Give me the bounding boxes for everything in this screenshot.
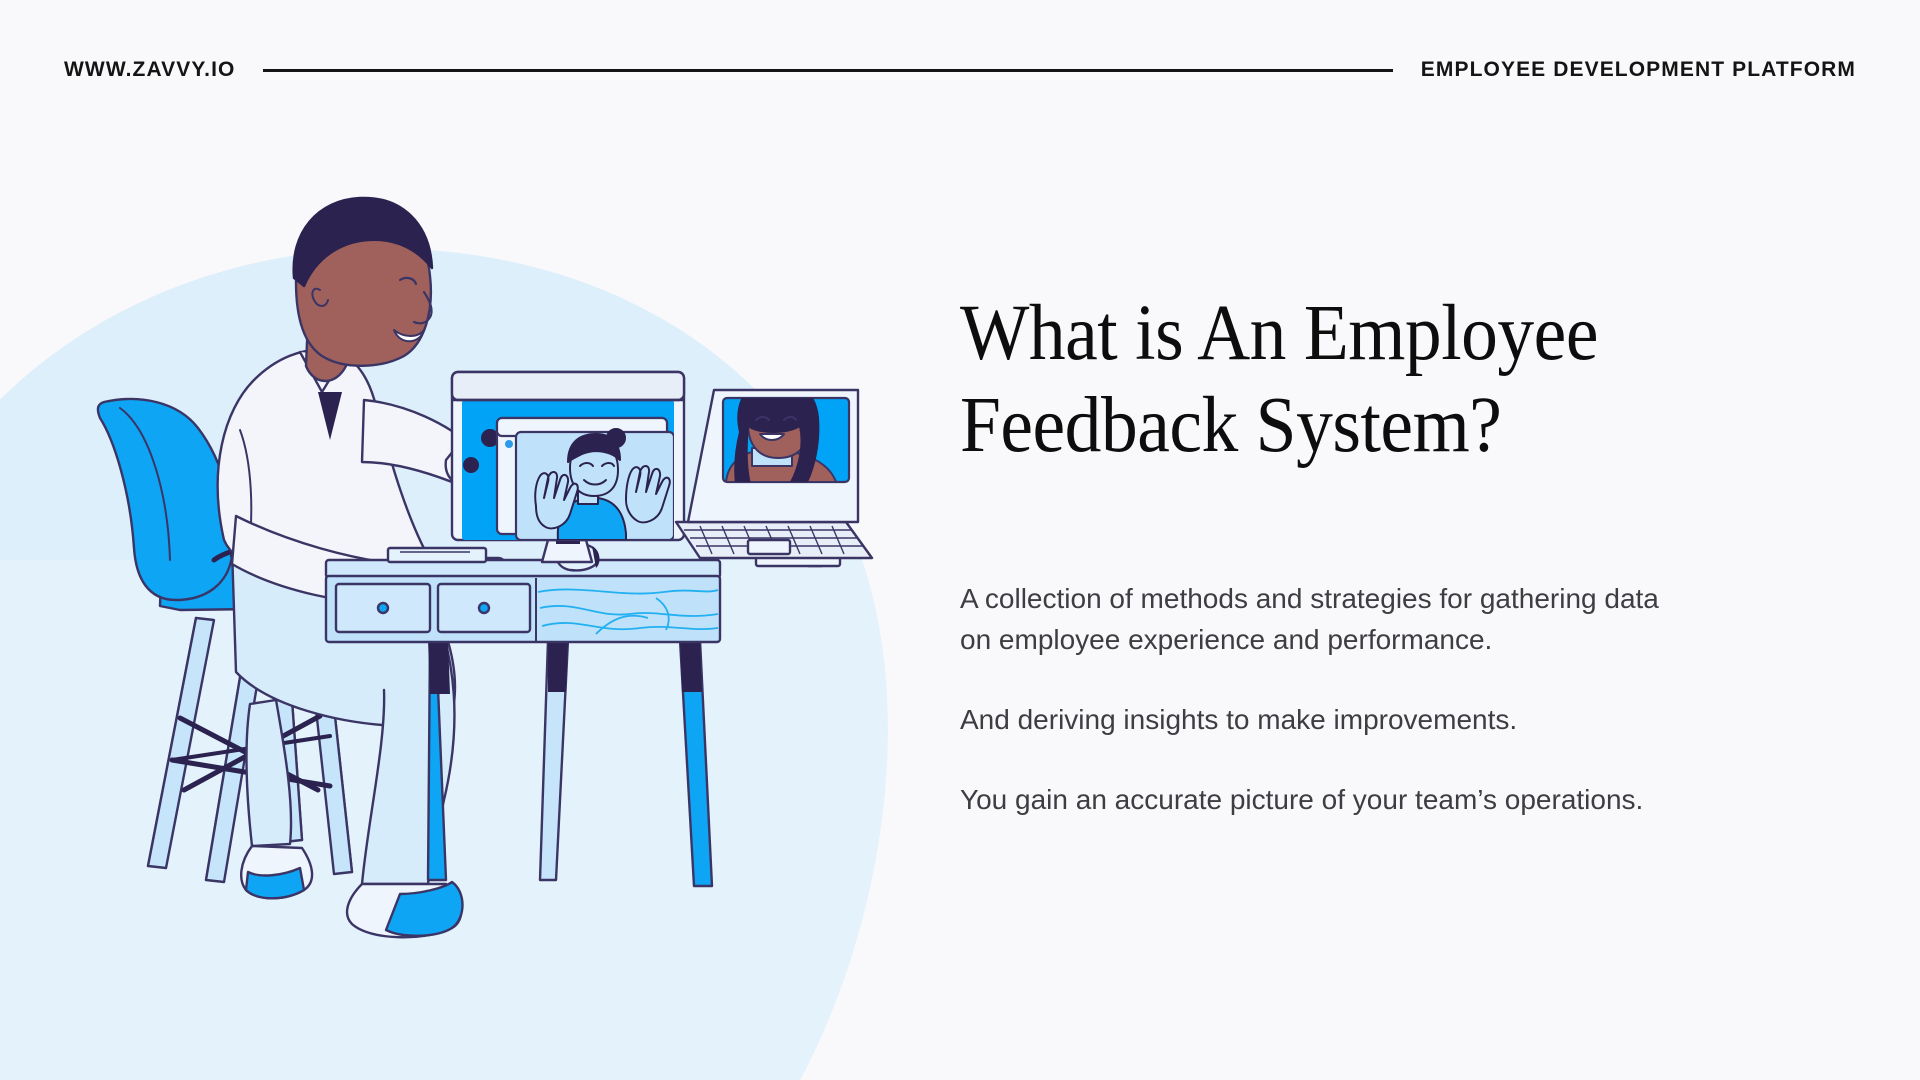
platform-tagline-label: EMPLOYEE DEVELOPMENT PLATFORM	[1421, 58, 1856, 82]
text-content-column: What is An Employee Feedback System? A c…	[960, 288, 1720, 821]
video-call-window[interactable]	[497, 418, 674, 540]
slide-root: WWW.ZAVVY.IO EMPLOYEE DEVELOPMENT PLATFO…	[0, 0, 1920, 1080]
headline-line-2: Feedback System?	[960, 382, 1501, 469]
desktop-monitor	[452, 372, 684, 562]
laptop-trackpad[interactable]	[748, 540, 790, 554]
body-paragraph-3: You gain an accurate picture of your tea…	[960, 780, 1690, 820]
body-paragraph-1: A collection of methods and strategies f…	[960, 579, 1690, 660]
body-paragraph-2: And deriving insights to make improvemen…	[960, 700, 1690, 740]
headline-line-1: What is An Employee	[960, 290, 1598, 377]
hero-illustration	[0, 0, 900, 1080]
body-copy: A collection of methods and strategies f…	[960, 579, 1720, 820]
illustration-svg	[0, 0, 900, 1080]
page-title: What is An Employee Feedback System?	[960, 288, 1667, 471]
keyboard[interactable]	[388, 548, 486, 562]
